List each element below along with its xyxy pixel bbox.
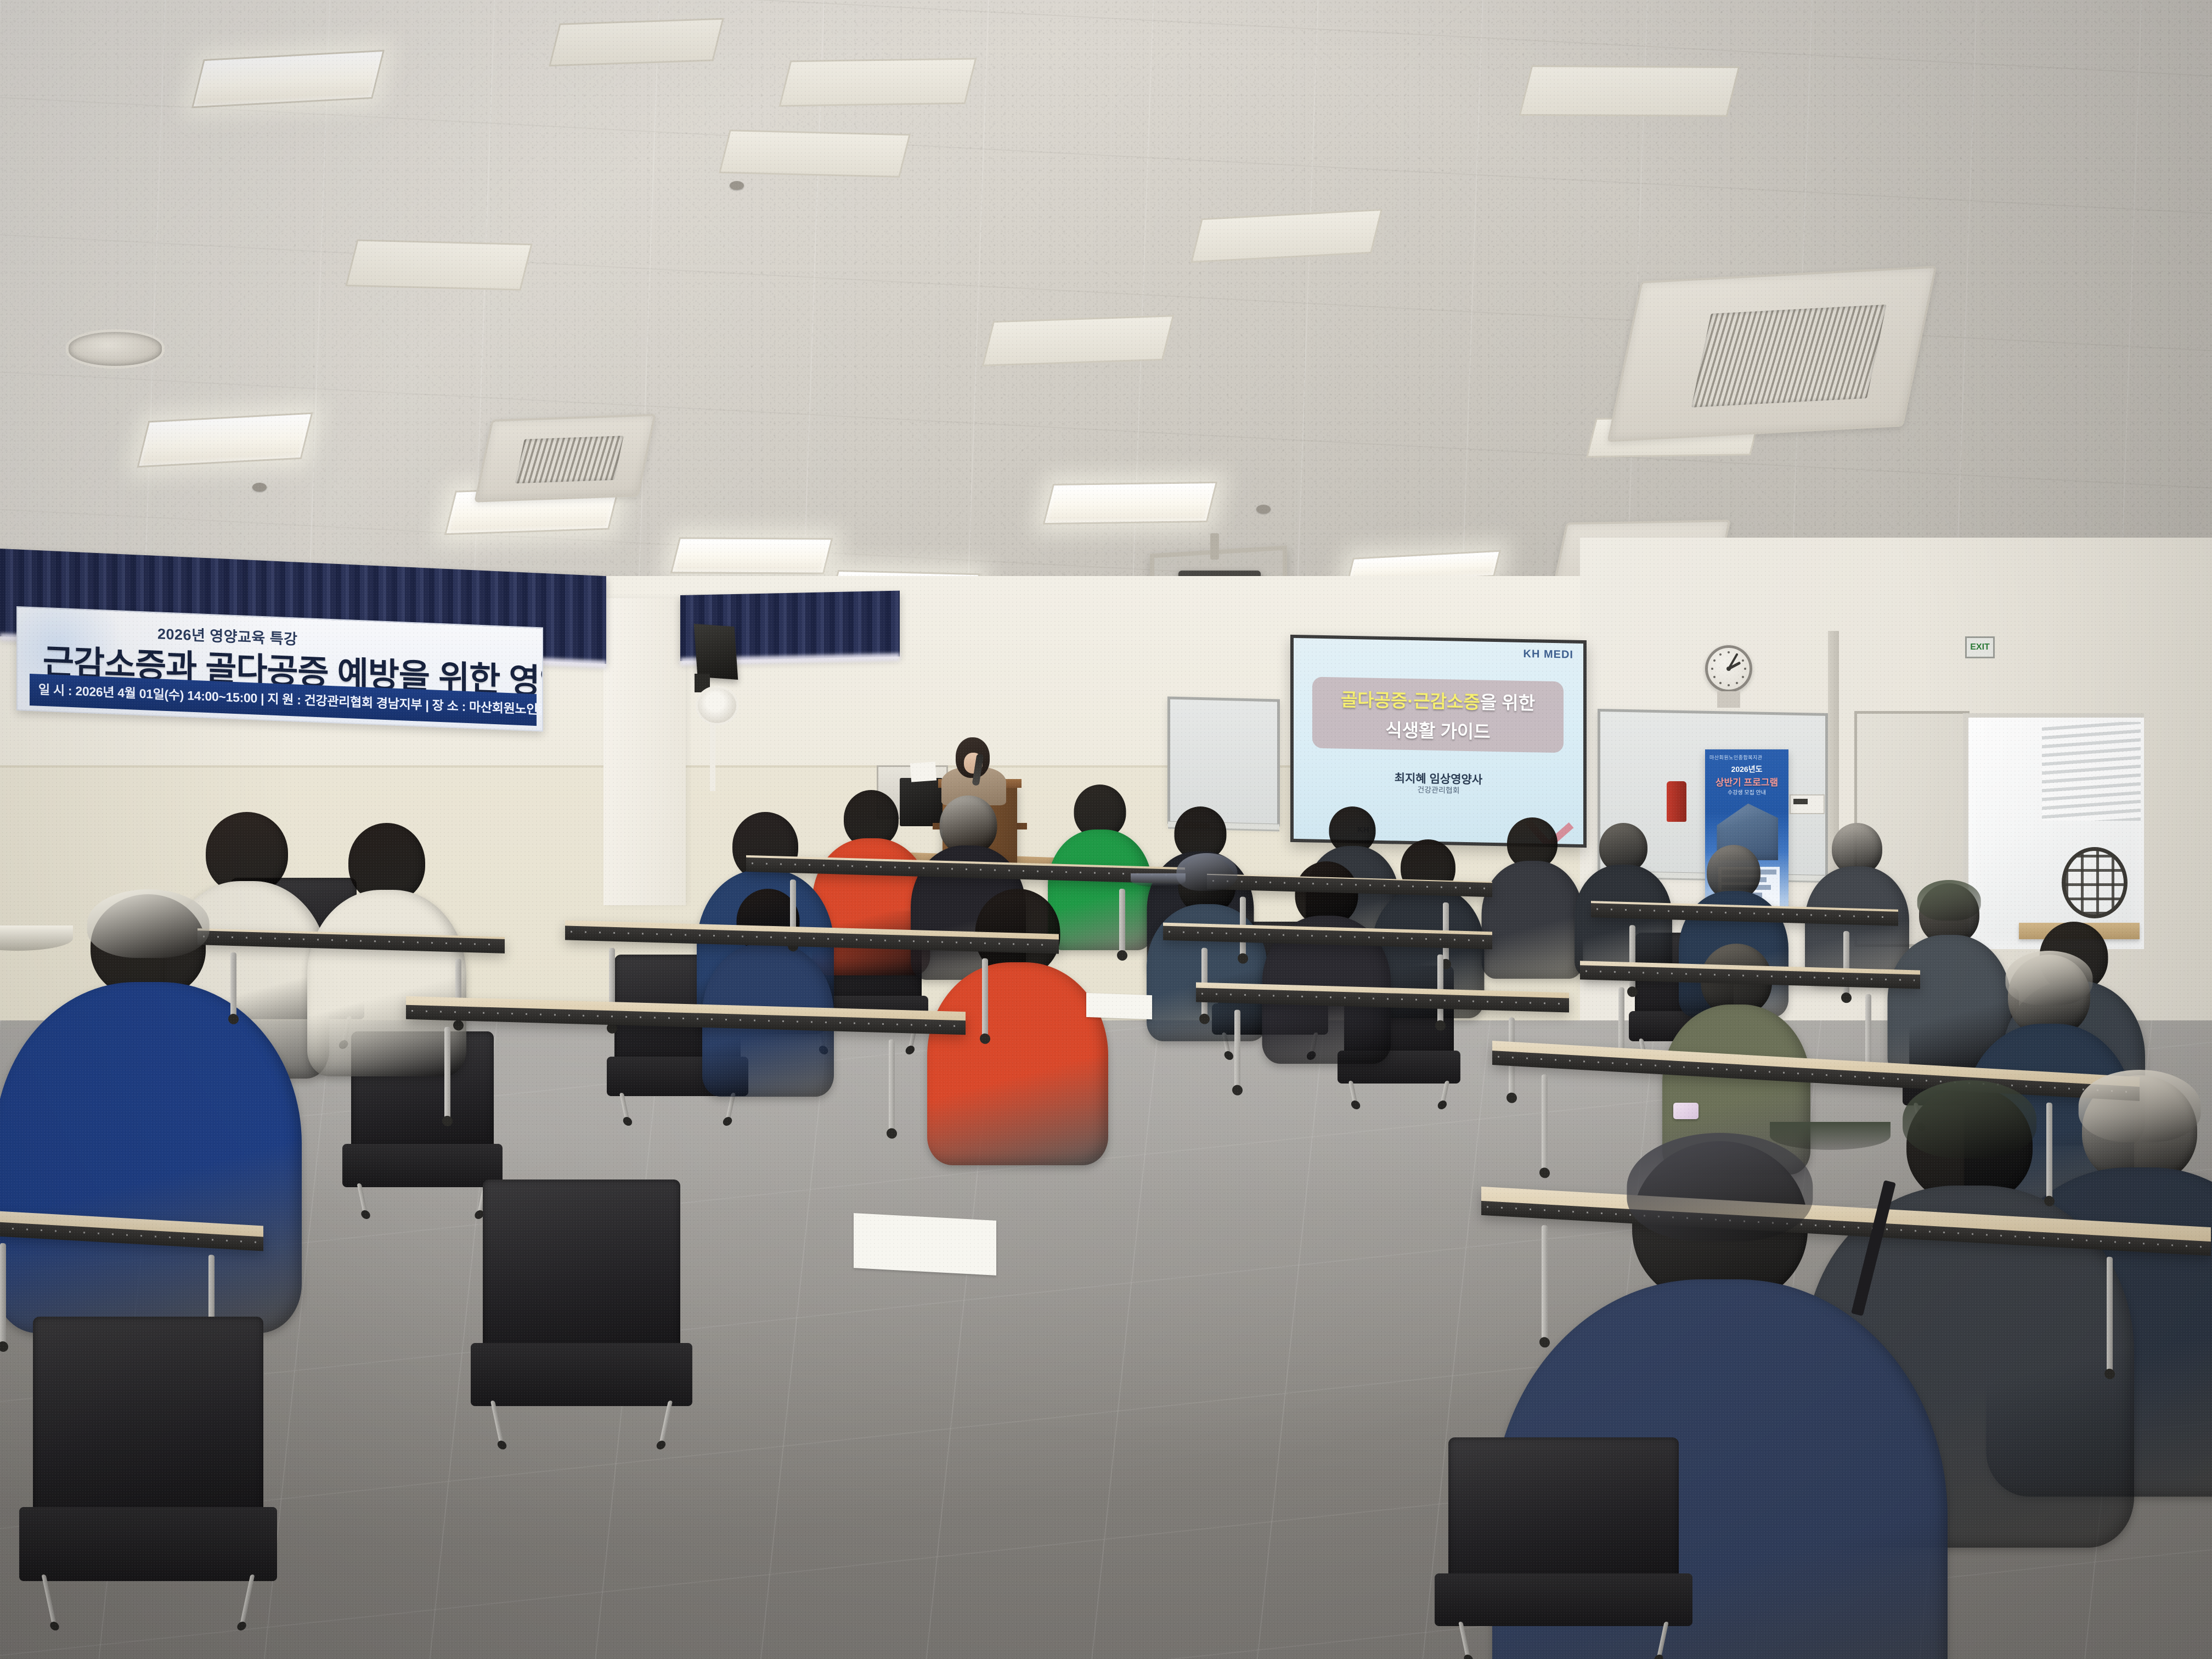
table-leg	[1542, 1074, 1548, 1171]
slide-title-box: 골다공증·근감소증을 위한 식생활 가이드	[1312, 677, 1564, 753]
globe-sculpture-icon	[2062, 847, 2128, 918]
rollup-line3: 수강생 모집 안내	[1705, 788, 1788, 796]
cap-icon	[1903, 1080, 2036, 1158]
cap-icon	[1917, 880, 1981, 921]
slide-title-line1: 골다공증·근감소증을 위한	[1341, 685, 1535, 715]
ceiling-light-icon	[137, 413, 313, 468]
chair-back	[1448, 1437, 1679, 1578]
person-body	[1481, 861, 1583, 979]
paper-sheet	[910, 761, 936, 782]
smoke-detector-icon	[1256, 505, 1271, 513]
ceiling-light-icon	[191, 50, 385, 108]
cap-brim	[0, 926, 73, 951]
cap-icon	[2079, 1070, 2201, 1142]
exit-sign-label: EXIT	[1970, 642, 1990, 652]
projector-arm	[1210, 533, 1219, 560]
table-leg	[2107, 1257, 2113, 1373]
table-leg	[1234, 1009, 1240, 1088]
front-left-man-cap	[0, 894, 302, 1350]
person-body	[0, 982, 302, 1333]
cap-icon	[1176, 853, 1237, 891]
ac-grille	[1691, 304, 1886, 408]
clock-center-pin	[1726, 667, 1731, 671]
table-leg	[1865, 994, 1871, 1068]
chair-legs	[47, 1575, 250, 1624]
slide-title-rest: 을 위한	[1480, 692, 1535, 713]
air-conditioner-icon	[1607, 266, 1937, 442]
chair-legs	[1351, 1081, 1447, 1103]
event-banner: 2026년 영양교육 특강 근감소증과 골다공증 예방을 위한 영양관리 일 시…	[16, 606, 543, 732]
paper-sheet	[1086, 993, 1152, 1019]
lecture-room-photo: 2026년 영양교육 특강 근감소증과 골다공증 예방을 위한 영양관리 일 시…	[0, 0, 2212, 1659]
woman-white-left2	[307, 823, 466, 1089]
clock-mount-box	[1717, 691, 1740, 708]
table-leg	[444, 1027, 450, 1119]
fire-extinguisher-icon	[1667, 781, 1686, 822]
wall-control-box[interactable]	[1790, 794, 1825, 814]
ceiling-light-icon	[982, 315, 1174, 366]
exit-sign: EXIT	[1965, 636, 1995, 658]
chair-legs	[360, 1183, 486, 1212]
ceiling-light-icon	[1519, 65, 1740, 117]
slide-title-line2: 식생활 가이드	[1385, 715, 1490, 744]
cap-icon	[87, 889, 210, 958]
chair[interactable]	[1448, 1437, 1679, 1657]
table-leg	[230, 952, 236, 1017]
air-conditioner-icon	[474, 414, 656, 503]
ceiling-light-icon	[719, 129, 911, 178]
chair[interactable]	[483, 1180, 680, 1443]
cap-brim	[1770, 1122, 1891, 1150]
rollup-logo: 마산회원노인종합복지관	[1709, 754, 1763, 761]
ac-grille	[515, 436, 624, 483]
paper-sheet	[854, 1213, 996, 1276]
chair-legs	[1462, 1622, 1665, 1657]
table-leg	[982, 958, 988, 1037]
wall-pillar	[603, 598, 686, 905]
man-back-a	[1481, 817, 1583, 987]
table-leg	[0, 1243, 6, 1345]
person-body	[927, 962, 1108, 1165]
ceiling-light-icon	[779, 58, 977, 106]
smoke-detector-icon	[730, 181, 744, 190]
chair-back	[33, 1317, 263, 1513]
ceiling-light-icon	[1043, 482, 1217, 524]
table-leg	[1542, 1225, 1548, 1341]
chair-seat	[19, 1507, 277, 1581]
cap-brim	[1131, 873, 1186, 887]
ceiling-diffuser-icon	[66, 329, 165, 369]
electric-fan-icon	[696, 686, 738, 725]
chair-seat	[342, 1144, 502, 1187]
smartphone-icon[interactable]	[1673, 1103, 1699, 1119]
window-blinds	[2042, 722, 2141, 821]
cap-icon	[1627, 1133, 1813, 1242]
rollup-line2: 상반기 프로그램	[1705, 775, 1788, 788]
ceiling-light-icon	[549, 18, 724, 67]
table-leg	[889, 1039, 895, 1131]
chair-legs	[495, 1401, 669, 1443]
chair-back	[483, 1180, 680, 1348]
chair[interactable]	[33, 1317, 263, 1624]
woman-back-left-a	[702, 889, 834, 1107]
speaker-icon	[694, 624, 738, 680]
person-body	[307, 890, 466, 1076]
cap-icon	[2006, 951, 2093, 1005]
slide-logo: KH MEDI	[1523, 648, 1573, 662]
smoke-detector-icon	[252, 483, 267, 492]
rollup-line1: 2026년도	[1705, 764, 1788, 775]
chair-seat	[471, 1343, 692, 1406]
table-leg	[1119, 889, 1125, 953]
person-body	[1575, 865, 1672, 977]
table-leg	[2046, 1102, 2052, 1199]
wall-clock-icon	[1705, 645, 1752, 692]
chair-seat	[1435, 1573, 1692, 1626]
ceiling-light-icon	[670, 537, 833, 574]
ceiling-light-icon	[345, 239, 532, 290]
slide-title-highlight: 골다공증·근감소증	[1341, 690, 1480, 713]
